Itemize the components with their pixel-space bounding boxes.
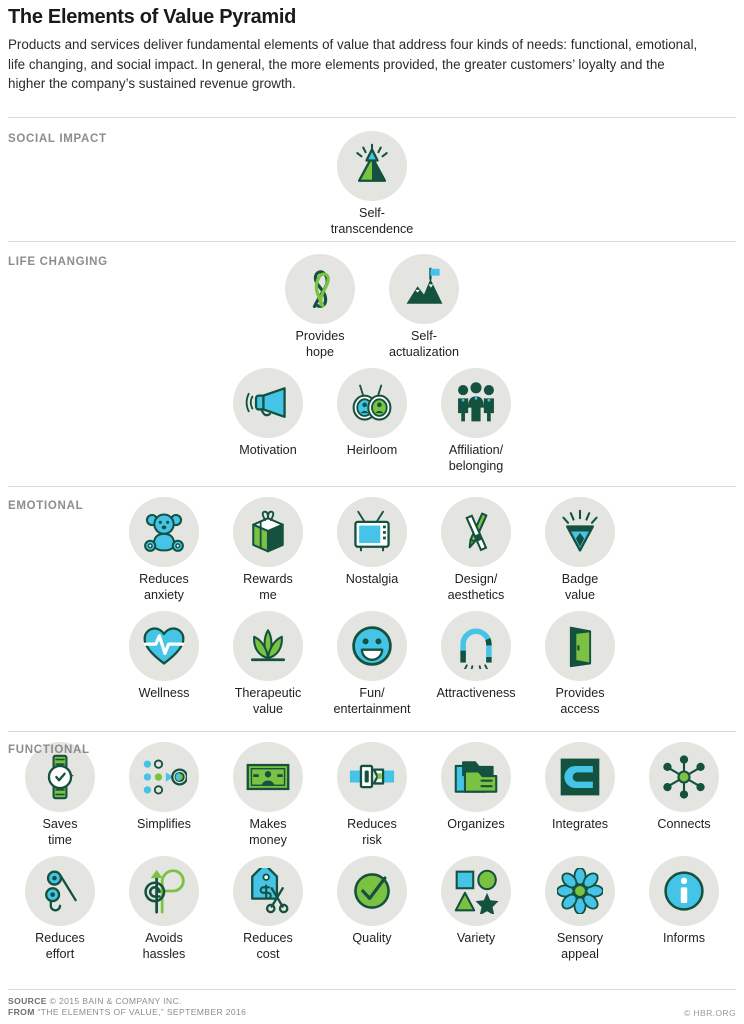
network-nodes-icon [649, 742, 719, 812]
source-key: SOURCE [8, 996, 47, 1006]
section-label: FUNCTIONAL [8, 744, 90, 756]
element-label: Quality [352, 931, 391, 947]
value-element[interactable]: Design/ aesthetics [424, 497, 528, 603]
section-label: EMOTIONAL [8, 500, 83, 512]
section-social-impact: SOCIAL IMPACTSelf- transcendence [8, 131, 736, 247]
element-label: Attractiveness [436, 686, 515, 702]
value-element[interactable]: Nostalgia [320, 497, 424, 603]
source-value: © 2015 BAIN & COMPANY INC. [50, 996, 182, 1006]
element-label: Connects [657, 817, 710, 833]
source-line: SOURCE © 2015 BAIN & COMPANY INC. [8, 996, 246, 1007]
section-divider [8, 241, 736, 242]
element-row: Self- transcendence [320, 131, 424, 237]
puzzle-c-icon [545, 742, 615, 812]
element-label: Variety [457, 931, 495, 947]
value-element[interactable]: Reduces cost [216, 856, 320, 962]
value-element[interactable]: Simplifies [112, 742, 216, 848]
from-line: FROM “THE ELEMENTS OF VALUE,” SEPTEMBER … [8, 1007, 246, 1018]
element-label: Informs [663, 931, 705, 947]
element-label: Provides hope [296, 329, 345, 360]
price-tag-scissors-icon [233, 856, 303, 926]
element-row: MotivationHeirloomAffiliation/ belonging [216, 368, 528, 474]
value-element[interactable]: Reduces risk [320, 742, 424, 848]
hbr-rights: © HBR.ORG [684, 1008, 736, 1018]
megaphone-icon [233, 368, 303, 438]
section-label: LIFE CHANGING [8, 256, 108, 268]
info-circle-icon [649, 856, 719, 926]
element-row: WellnessTherapeutic valueFun/ entertainm… [112, 611, 632, 717]
footer: SOURCE © 2015 BAIN & COMPANY INC. FROM “… [8, 989, 736, 1018]
value-element[interactable]: Connects [632, 742, 736, 848]
pulley-icon [25, 856, 95, 926]
value-element[interactable]: Badge value [528, 497, 632, 603]
element-label: Self- transcendence [331, 206, 414, 237]
value-element[interactable]: Avoids hassles [112, 856, 216, 962]
element-label: Provides access [556, 686, 605, 717]
element-label: Sensory appeal [557, 931, 603, 962]
spiral-arrow-icon [129, 856, 199, 926]
element-label: Reduces anxiety [139, 572, 189, 603]
leaf-plant-icon [233, 611, 303, 681]
value-element[interactable]: Saves time [8, 742, 112, 848]
value-element[interactable]: Self- transcendence [320, 131, 424, 237]
element-label: Nostalgia [346, 572, 399, 588]
element-label: Saves time [42, 817, 77, 848]
heart-pulse-icon [129, 611, 199, 681]
dots-converge-icon [129, 742, 199, 812]
open-door-icon [545, 611, 615, 681]
value-element[interactable]: Attractiveness [424, 611, 528, 717]
value-element[interactable]: Integrates [528, 742, 632, 848]
element-label: Heirloom [347, 443, 397, 459]
pencil-brush-icon [441, 497, 511, 567]
element-label: Organizes [447, 817, 504, 833]
section-functional: FUNCTIONALSaves timeSimplifiesMakes mone… [8, 742, 736, 970]
value-element[interactable]: Makes money [216, 742, 320, 848]
value-element[interactable]: Affiliation/ belonging [424, 368, 528, 474]
element-row: Saves timeSimplifiesMakes moneyReduces r… [8, 742, 736, 848]
value-element[interactable]: Heirloom [320, 368, 424, 474]
section-divider [8, 486, 736, 487]
gift-box-icon [233, 497, 303, 567]
section-divider [8, 117, 736, 118]
people-group-icon [441, 368, 511, 438]
element-label: Affiliation/ belonging [449, 443, 504, 474]
value-element[interactable]: Variety [424, 856, 528, 962]
element-label: Motivation [239, 443, 296, 459]
value-element[interactable]: Organizes [424, 742, 528, 848]
value-element[interactable]: Reduces anxiety [112, 497, 216, 603]
footer-credits: SOURCE © 2015 BAIN & COMPANY INC. FROM “… [8, 996, 246, 1018]
value-element[interactable]: Provides access [528, 611, 632, 717]
pyramid-icon [337, 131, 407, 201]
value-element[interactable]: Reduces effort [8, 856, 112, 962]
value-element[interactable]: Wellness [112, 611, 216, 717]
element-label: Avoids hassles [143, 931, 186, 962]
element-label: Reduces cost [243, 931, 293, 962]
value-element[interactable]: Sensory appeal [528, 856, 632, 962]
element-label: Rewards me [243, 572, 293, 603]
value-element[interactable]: Provides hope [268, 254, 372, 360]
element-label: Self- actualization [389, 329, 459, 360]
page-deck: Products and services deliver fundamenta… [8, 35, 698, 94]
element-label: Makes money [249, 817, 287, 848]
ribbon-icon [285, 254, 355, 324]
element-label: Design/ aesthetics [448, 572, 505, 603]
element-label: Simplifies [137, 817, 191, 833]
value-element[interactable]: Quality [320, 856, 424, 962]
section-divider [8, 731, 736, 732]
element-label: Badge value [562, 572, 598, 603]
element-row: Reduces effortAvoids hasslesReduces cost… [8, 856, 736, 962]
value-element[interactable]: Fun/ entertainment [320, 611, 424, 717]
flower-icon [545, 856, 615, 926]
television-icon [337, 497, 407, 567]
mountain-flag-icon [389, 254, 459, 324]
shapes-icon [441, 856, 511, 926]
badge-shield-icon [545, 497, 615, 567]
value-element[interactable]: Rewards me [216, 497, 320, 603]
element-row: Provides hopeSelf- actualization [268, 254, 476, 360]
check-circle-icon [337, 856, 407, 926]
value-element[interactable]: Therapeutic value [216, 611, 320, 717]
element-label: Fun/ entertainment [333, 686, 410, 717]
banknote-icon [233, 742, 303, 812]
element-row: Reduces anxietyRewards meNostalgiaDesign… [112, 497, 632, 603]
value-element[interactable]: Motivation [216, 368, 320, 474]
value-element[interactable]: Self- actualization [372, 254, 476, 360]
element-label: Integrates [552, 817, 608, 833]
element-label: Wellness [139, 686, 190, 702]
smiley-face-icon [337, 611, 407, 681]
magnet-icon [441, 611, 511, 681]
page-title: The Elements of Value Pyramid [8, 0, 736, 29]
element-label: Reduces risk [347, 817, 397, 848]
footer-divider [8, 989, 736, 990]
locket-icon [337, 368, 407, 438]
teddy-bear-icon [129, 497, 199, 567]
from-value: “THE ELEMENTS OF VALUE,” SEPTEMBER 2016 [37, 1007, 246, 1017]
section-emotional: EMOTIONALReduces anxietyRewards meNostal… [8, 497, 736, 725]
section-label: SOCIAL IMPACT [8, 133, 107, 145]
seatbelt-icon [337, 742, 407, 812]
element-label: Reduces effort [35, 931, 85, 962]
value-element[interactable]: Informs [632, 856, 736, 962]
from-key: FROM [8, 1007, 35, 1017]
infographic-page: The Elements of Value Pyramid Products a… [0, 0, 744, 1024]
element-label: Therapeutic value [235, 686, 302, 717]
folders-icon [441, 742, 511, 812]
section-life-changing: LIFE CHANGINGProvides hopeSelf- actualiz… [8, 254, 736, 482]
